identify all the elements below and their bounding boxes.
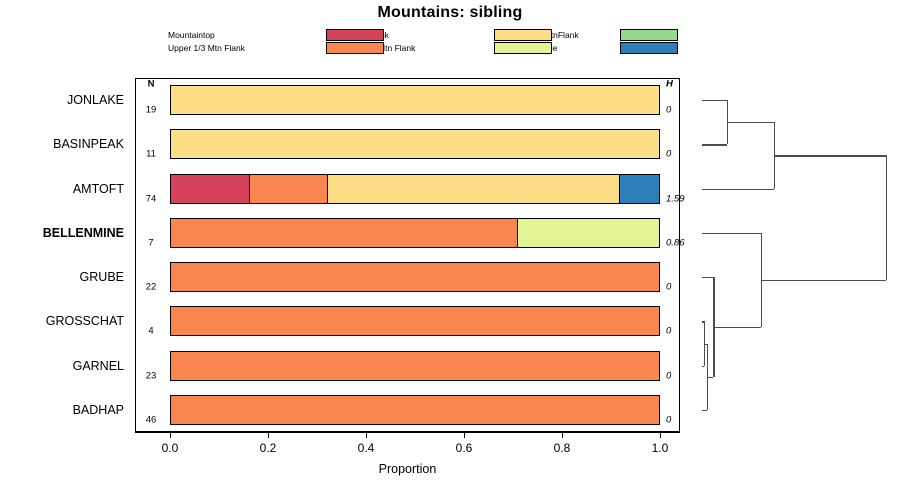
bar-segment-upper-1-3-mtn-flank — [171, 263, 659, 291]
bar-segment-mountainflank — [327, 175, 619, 203]
bar-segment-mountainflank — [171, 86, 659, 114]
legend-swatch-upper-third-mtn-flank — [326, 42, 384, 54]
x-axis-title: Proportion — [135, 462, 680, 476]
table-row — [170, 218, 660, 248]
x-tick-label-0.0: 0.0 — [162, 441, 179, 455]
chart-root: Mountains: sibling Mountaintop Mountainf… — [0, 0, 900, 500]
dendrogram-link-e — [713, 327, 761, 328]
legend-label-upper-third-mtn-flank: Upper 1/3 Mtn Flank — [168, 42, 326, 55]
legend-swatch-center-third-mtn-flank — [494, 42, 552, 54]
dendrogram-link-a — [727, 122, 775, 123]
dendrogram-leaf-garnel — [702, 366, 704, 367]
legend-swatch-cell-1 — [326, 29, 336, 42]
x-tick-0.8 — [562, 432, 563, 438]
dendrogram-leaf-badhap — [702, 410, 707, 411]
table-row — [170, 85, 660, 115]
dendrogram-leaf-bellenmine — [702, 233, 761, 234]
legend-swatch-cell-2 — [326, 42, 336, 55]
bar-segment-mountainbase — [619, 175, 659, 203]
x-tick-0.6 — [464, 432, 465, 438]
bar-segment-upper-1-3-mtn-flank — [249, 175, 328, 203]
dendrogram-leaf-jonlake — [702, 100, 727, 101]
table-row — [170, 129, 660, 159]
dendrogram-leaf-basinpeak — [702, 144, 727, 145]
x-tick-label-0.2: 0.2 — [260, 441, 277, 455]
legend-swatch-cell-4 — [494, 42, 504, 55]
bar-segment-upper-1-3-mtn-flank — [171, 307, 659, 335]
x-axis-line — [135, 432, 680, 433]
bar-segment-upper-1-3-mtn-flank — [171, 352, 659, 380]
bar-segment-center-1-3-mtn-flank — [517, 219, 659, 247]
x-axis: 0.00.20.40.60.81.0 — [135, 432, 680, 452]
table-row — [170, 351, 660, 381]
x-tick-label-0.6: 0.6 — [456, 441, 473, 455]
x-tick-label-0.4: 0.4 — [358, 441, 375, 455]
chart-title: Mountains: sibling — [0, 4, 900, 22]
x-tick-1.0 — [660, 432, 661, 438]
table-row — [170, 306, 660, 336]
legend-label-mountaintop: Mountaintop — [168, 29, 326, 42]
dendrogram-leaf-amtoft — [702, 189, 774, 190]
table-row — [170, 395, 660, 425]
dendrogram-link-d — [707, 377, 714, 378]
dendrogram — [688, 78, 900, 432]
x-tick-0.4 — [366, 432, 367, 438]
bar-segment-mountainflank — [171, 130, 659, 158]
x-tick-0.0 — [170, 432, 171, 438]
legend-swatch-cell-3 — [494, 29, 504, 42]
table-row — [170, 262, 660, 292]
bar-segment-upper-1-3-mtn-flank — [171, 396, 659, 424]
x-tick-label-1.0: 1.0 — [652, 441, 669, 455]
table-row — [170, 174, 660, 204]
dendrogram-leaf-grube — [702, 277, 713, 278]
legend-swatch-mountainflank — [494, 29, 552, 41]
dendrogram-node-root — [886, 155, 887, 279]
legend-swatch-lower-third-mtnflank — [620, 29, 678, 41]
chart-legend: Mountaintop Mountainflank Lower 1/3 MtnF… — [168, 29, 668, 55]
legend-swatch-mountaintop — [326, 29, 384, 41]
x-tick-label-0.8: 0.8 — [554, 441, 571, 455]
dendrogram-link-b — [774, 155, 886, 156]
bar-segment-upper-1-3-mtn-flank — [171, 219, 517, 247]
x-tick-0.2 — [268, 432, 269, 438]
dendrogram-link-f — [761, 280, 886, 281]
legend-swatch-mountainbase — [620, 42, 678, 54]
bar-segment-mountaintop — [171, 175, 249, 203]
